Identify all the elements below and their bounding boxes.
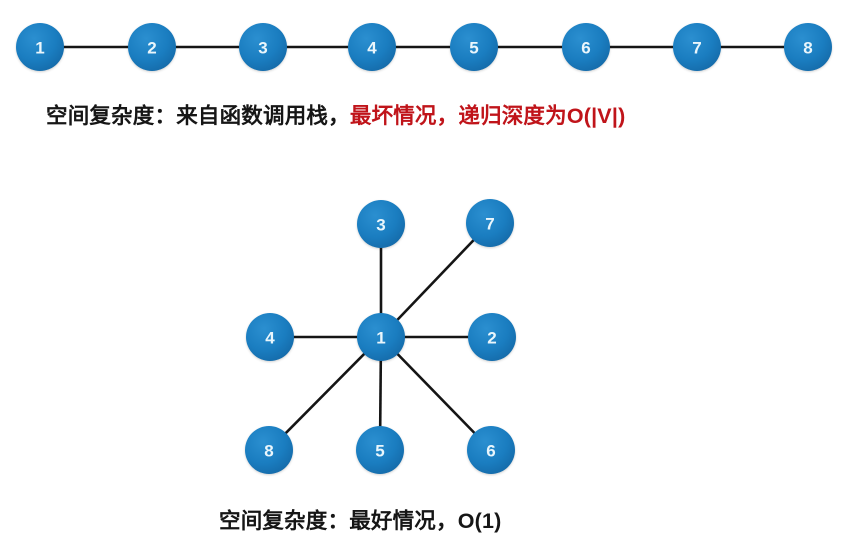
star-node-5: 5 (356, 426, 404, 474)
worst-case-caption-prefix: 空间复杂度：来自函数调用栈， (46, 104, 350, 128)
chain-node-circle-1 (16, 23, 64, 71)
star-node-label-2: 2 (487, 329, 496, 348)
chain-node-1: 1 (16, 23, 64, 71)
star-graph-nodes: 37412856 (245, 199, 516, 474)
best-case-caption: 空间复杂度：最好情况，O(1) (219, 504, 502, 535)
star-node-label-4: 4 (265, 329, 275, 348)
star-graph-edges (285, 240, 475, 434)
star-node-label-3: 3 (376, 216, 385, 235)
star-node-circle-1 (357, 313, 405, 361)
chain-node-circle-2 (128, 23, 176, 71)
star-node-circle-3 (357, 200, 405, 248)
star-edge-1-8 (285, 353, 365, 433)
star-node-8: 8 (245, 426, 293, 474)
chain-node-2: 2 (128, 23, 176, 71)
chain-node-label-2: 2 (147, 39, 156, 58)
chain-node-circle-4 (348, 23, 396, 71)
chain-node-label-7: 7 (692, 39, 701, 58)
star-node-circle-5 (356, 426, 404, 474)
star-edge-1-7 (397, 240, 474, 321)
chain-node-label-8: 8 (803, 39, 812, 58)
chain-node-circle-8 (784, 23, 832, 71)
chain-node-circle-7 (673, 23, 721, 71)
star-node-4: 4 (246, 313, 294, 361)
chain-node-4: 4 (348, 23, 396, 71)
chain-node-circle-5 (450, 23, 498, 71)
chain-node-5: 5 (450, 23, 498, 71)
chain-node-circle-6 (562, 23, 610, 71)
star-node-circle-7 (466, 199, 514, 247)
chain-node-label-6: 6 (581, 39, 590, 58)
star-node-label-6: 6 (486, 442, 495, 461)
chain-node-circle-3 (239, 23, 287, 71)
star-node-1: 1 (357, 313, 405, 361)
slide-canvas: 12345678 37412856 空间复杂度：来自函数调用栈，最坏情况，递归深… (0, 0, 864, 549)
chain-node-8: 8 (784, 23, 832, 71)
chain-node-label-5: 5 (469, 39, 478, 58)
star-edge-1-6 (397, 353, 475, 433)
chain-node-label-3: 3 (258, 39, 267, 58)
graph-diagram-layer: 12345678 37412856 (0, 0, 864, 549)
chain-node-7: 7 (673, 23, 721, 71)
star-node-circle-4 (246, 313, 294, 361)
worst-case-caption: 空间复杂度：来自函数调用栈，最坏情况，递归深度为O(|V|) (46, 99, 625, 130)
star-node-label-8: 8 (264, 442, 273, 461)
chain-node-label-4: 4 (367, 39, 377, 58)
path-graph-nodes: 12345678 (16, 23, 832, 71)
chain-node-3: 3 (239, 23, 287, 71)
star-node-7: 7 (466, 199, 514, 247)
chain-node-label-1: 1 (35, 39, 44, 58)
star-node-3: 3 (357, 200, 405, 248)
star-node-circle-2 (468, 313, 516, 361)
star-node-label-7: 7 (485, 215, 494, 234)
worst-case-caption-highlight: 最坏情况，递归深度为O(|V|) (350, 104, 626, 128)
star-node-circle-8 (245, 426, 293, 474)
star-node-circle-6 (467, 426, 515, 474)
star-node-label-5: 5 (375, 442, 384, 461)
chain-node-6: 6 (562, 23, 610, 71)
star-node-label-1: 1 (376, 329, 385, 348)
star-edge-1-5 (380, 360, 381, 427)
star-node-6: 6 (467, 426, 515, 474)
star-node-2: 2 (468, 313, 516, 361)
